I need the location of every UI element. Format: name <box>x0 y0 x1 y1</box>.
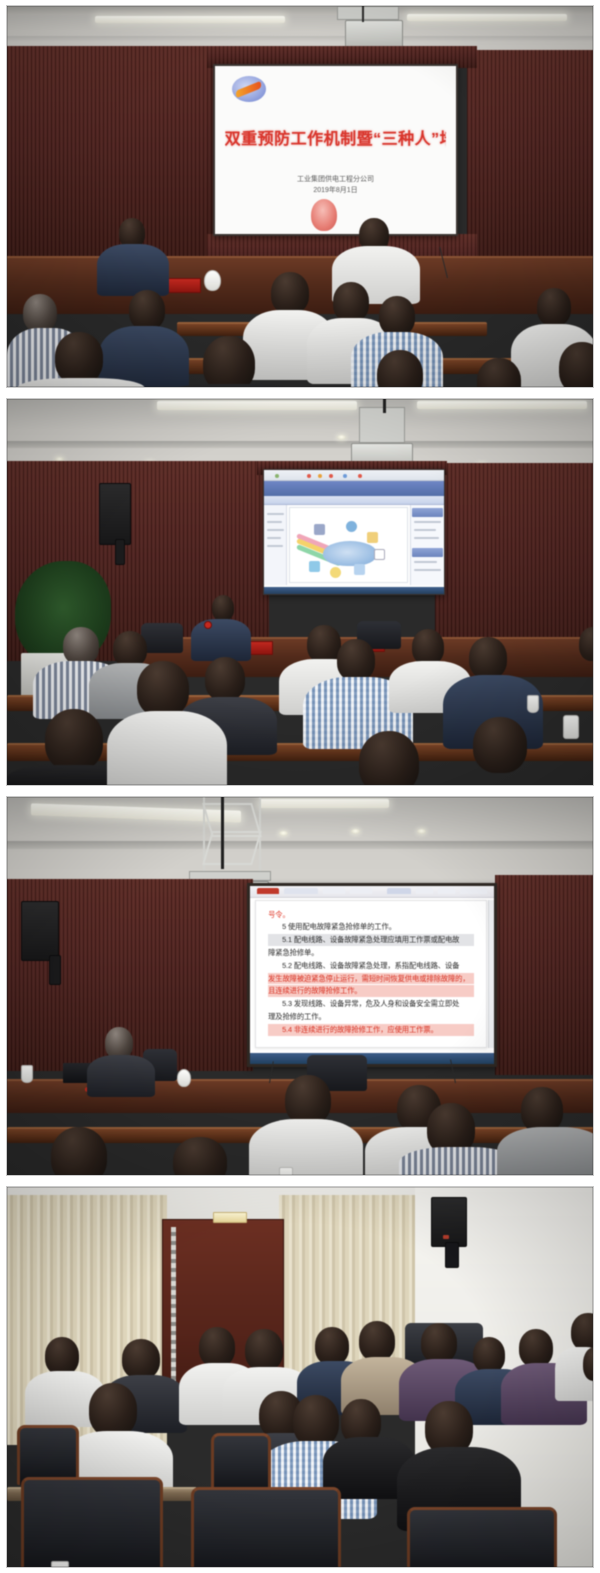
doc-line: 5 使用配电故障紧急抢修单的工作。 <box>268 921 473 933</box>
student-head <box>315 1327 349 1365</box>
company-logo-icon <box>232 76 266 102</box>
audience-head <box>205 657 245 701</box>
photo-1-scene: 双重预防工作机制暨“三种人”培训 工业集团供电工程分公司 2019年8月1日 <box>7 6 593 387</box>
water-glass <box>563 715 579 739</box>
photo-1[interactable]: 双重预防工作机制暨“三种人”培训 工业集团供电工程分公司 2019年8月1日 <box>6 5 594 388</box>
wall-speaker-icon <box>431 1197 467 1247</box>
app-canvas <box>289 507 408 583</box>
audience-head-front <box>173 1137 227 1175</box>
audience-body <box>249 1119 363 1175</box>
speaker-led-icon <box>443 1235 449 1239</box>
student-head <box>199 1327 235 1367</box>
student-head <box>89 1383 137 1437</box>
student-head <box>519 1329 553 1367</box>
person-body <box>97 244 169 296</box>
photo-gallery: 双重预防工作机制暨“三种人”培训 工业集团供电工程分公司 2019年8月1日 <box>0 0 600 1573</box>
title-slide: 双重预防工作机制暨“三种人”培训 工业集团供电工程分公司 2019年8月1日 <box>215 66 456 234</box>
ceiling-beam <box>7 441 593 448</box>
ribbon-tab[interactable] <box>284 888 318 895</box>
app-header <box>264 481 444 496</box>
student-head <box>571 1313 593 1351</box>
projection-screen-3: 号令。 5 使用配电故障紧急抢修单的工作。 5.1 配电线路、设备故障紧急处理应… <box>247 883 497 1067</box>
ribbon-tab[interactable] <box>323 888 345 895</box>
audience-head <box>379 296 415 336</box>
wall-speaker-icon <box>99 483 131 545</box>
student-head <box>45 1337 79 1375</box>
slide-subtitle: 工业集团供电工程分公司 2019年8月1日 <box>239 174 432 197</box>
downlight <box>417 829 426 834</box>
audience-body-front <box>17 378 145 387</box>
toolbar-dot-icon <box>358 474 362 478</box>
slide-decoration-icon <box>311 199 337 231</box>
student-head <box>421 1323 457 1363</box>
word-document-slide: 号令。 5 使用配电故障紧急抢修单的工作。 5.1 配电线路、设备故障紧急处理应… <box>250 886 494 1064</box>
projector-cable <box>383 399 386 413</box>
document-page: 号令。 5 使用配电故障紧急抢修单的工作。 5.1 配电线路、设备故障紧急处理应… <box>255 900 487 1048</box>
cloud-graphic-icon <box>323 541 377 566</box>
app-tile-icon <box>346 521 357 532</box>
student-head <box>473 1337 505 1373</box>
toolbar-dot-icon <box>329 474 333 478</box>
student-head <box>245 1329 283 1371</box>
toolbar-dot-icon <box>318 474 322 478</box>
seat <box>17 1425 79 1485</box>
photo-4-scene <box>7 1187 593 1567</box>
audience-head-front <box>55 332 103 384</box>
audience-head <box>337 639 375 681</box>
doc-line: 号令。 <box>268 909 473 921</box>
seat-foreground <box>191 1487 341 1567</box>
ribbon-file-tab[interactable] <box>257 888 279 895</box>
doc-line: 5.4 非连续进行的故障抢修工作，应使用工作票。 <box>268 1024 473 1036</box>
audience-head <box>307 625 341 663</box>
doc-line: 且连续进行的故障抢修工作。 <box>268 985 473 997</box>
audience-head <box>333 282 369 322</box>
app-tile-icon <box>314 524 325 535</box>
doc-line: 5.1 配电线路、设备故障紧急处理应填用工作票或配电故 <box>268 934 473 946</box>
downlight <box>337 435 346 440</box>
speaker-bracket <box>49 955 61 985</box>
student-head <box>122 1339 160 1379</box>
chair <box>141 623 183 653</box>
seat-foreground <box>407 1507 557 1567</box>
photo-frame-2 <box>0 393 600 791</box>
wall-speaker-icon <box>21 901 59 961</box>
teapot <box>204 270 221 291</box>
ribbon-tab[interactable] <box>460 888 487 895</box>
app-subheader <box>264 496 444 505</box>
ribbon-tab[interactable] <box>416 888 433 895</box>
ribbon-tab[interactable] <box>438 888 455 895</box>
audience-body-front <box>107 711 227 785</box>
teapot <box>177 1069 191 1087</box>
speaker-bracket <box>115 539 125 565</box>
ceiling-beam-2 <box>7 36 593 42</box>
ceiling-light-strip <box>417 401 587 409</box>
projector-cable <box>362 6 364 22</box>
ceiling-light-strip <box>259 799 389 808</box>
windows-taskbar <box>250 1053 494 1064</box>
audience-body <box>497 1127 593 1175</box>
audience-head <box>285 1075 331 1125</box>
audience-head-front <box>51 1127 107 1175</box>
toolbar-dot-icon <box>275 474 279 478</box>
slide-title: 双重预防工作机制暨“三种人”培训 <box>225 125 447 149</box>
photo-2-scene <box>7 399 593 785</box>
doc-line: 理及抢修的工作。 <box>268 1011 473 1023</box>
audience-head-front <box>45 709 103 771</box>
photo-2[interactable] <box>6 398 594 786</box>
audience-head <box>129 290 165 330</box>
paper-cup <box>51 1561 69 1567</box>
software-slide <box>264 470 444 594</box>
app-right-panel <box>410 505 444 586</box>
word-ribbon <box>250 886 494 898</box>
doc-line: 5.3 发现线路、设备异常，危及人身和设备安全需立即处 <box>268 998 473 1010</box>
audience-head <box>113 631 147 667</box>
wall-wood-right <box>467 50 593 260</box>
projection-screen-1: 双重预防工作机制暨“三种人”培训 工业集团供电工程分公司 2019年8月1日 <box>213 64 458 236</box>
wall-wood-right <box>435 463 593 663</box>
paper-cup <box>21 1065 33 1083</box>
ribbon-tab[interactable] <box>350 888 372 895</box>
ceiling-light-strip-left <box>95 16 285 23</box>
toolbar-dot-icon <box>307 474 311 478</box>
photo-3-scene: 号令。 5 使用配电故障紧急抢修单的工作。 5.1 配电线路、设备故障紧急处理应… <box>7 797 593 1175</box>
document-ruler <box>488 900 494 1048</box>
app-tile-icon <box>367 532 378 543</box>
audience-head-front <box>203 336 255 387</box>
audience-head <box>63 627 99 665</box>
audience-head <box>537 288 571 326</box>
scissor-arm <box>202 831 262 865</box>
photo-4[interactable] <box>6 1186 594 1568</box>
speaker-bracket <box>445 1242 459 1268</box>
slide-subtitle-date: 2019年8月1日 <box>239 185 432 197</box>
audience-head <box>23 294 57 332</box>
photo-frame-4 <box>0 1181 600 1573</box>
app-left-nav <box>264 505 287 586</box>
ceiling-light-strip-right <box>407 14 567 21</box>
student-head <box>359 1321 395 1361</box>
audience-head <box>412 629 444 665</box>
app-tile-icon <box>309 561 320 572</box>
photo-frame-1: 双重预防工作机制暨“三种人”培训 工业集团供电工程分公司 2019年8月1日 <box>0 0 600 393</box>
ceiling-beam <box>7 841 593 849</box>
ceiling-light-strip <box>157 401 357 410</box>
slide-subtitle-org: 工业集团供电工程分公司 <box>239 174 432 186</box>
doc-line: 发生故障被迫紧急停止运行，需短时间恢复供电或排除故障的， <box>268 973 473 985</box>
doc-line: 5.2 配电线路、设备故障紧急处理，系指配电线路、设备 <box>268 960 473 972</box>
seat-foreground <box>21 1477 163 1567</box>
name-plate <box>167 278 201 293</box>
windows-taskbar <box>264 587 444 594</box>
projector-mount-plate <box>337 6 399 20</box>
projector-icon <box>345 20 403 48</box>
person-body-presenter <box>191 619 251 661</box>
photo-3[interactable]: 号令。 5 使用配电故障紧急抢修单的工作。 5.1 配电线路、设备故障紧急处理应… <box>6 796 594 1176</box>
wall-wood-right <box>495 875 593 1075</box>
audience-head-front <box>359 731 419 785</box>
student-head <box>293 1395 339 1447</box>
paper-cup <box>527 695 539 713</box>
audience-head-front <box>473 717 527 773</box>
person-body-presenter <box>87 1055 155 1097</box>
downlight <box>351 829 360 834</box>
app-tile-icon <box>374 549 385 560</box>
wall-wood-left <box>7 46 217 256</box>
audience-head <box>469 637 507 679</box>
toolbar-dot-icon <box>343 474 347 478</box>
paper-cup <box>279 1167 293 1175</box>
app-tile-icon <box>354 564 365 575</box>
projector-cable <box>221 797 224 869</box>
projector-mount <box>359 407 405 443</box>
photo-frame-3: 号令。 5 使用配电故障紧急抢修单的工作。 5.1 配电线路、设备故障紧急处理应… <box>0 791 600 1181</box>
projection-screen-2 <box>263 469 445 595</box>
audience-head-front <box>137 661 189 717</box>
ribbon-tab[interactable] <box>387 888 411 895</box>
exit-sign-icon <box>213 1212 247 1223</box>
badge-icon <box>204 621 212 629</box>
person-head-presenter <box>212 595 234 621</box>
seat <box>211 1433 271 1491</box>
doc-line: 障紧急抢修单。 <box>268 947 473 959</box>
audience-head <box>579 627 593 661</box>
app-tile-icon <box>330 567 341 578</box>
downlight <box>279 831 288 836</box>
audience-head <box>271 272 309 314</box>
browser-toolbar <box>264 470 444 481</box>
audience-head-front <box>559 342 593 387</box>
